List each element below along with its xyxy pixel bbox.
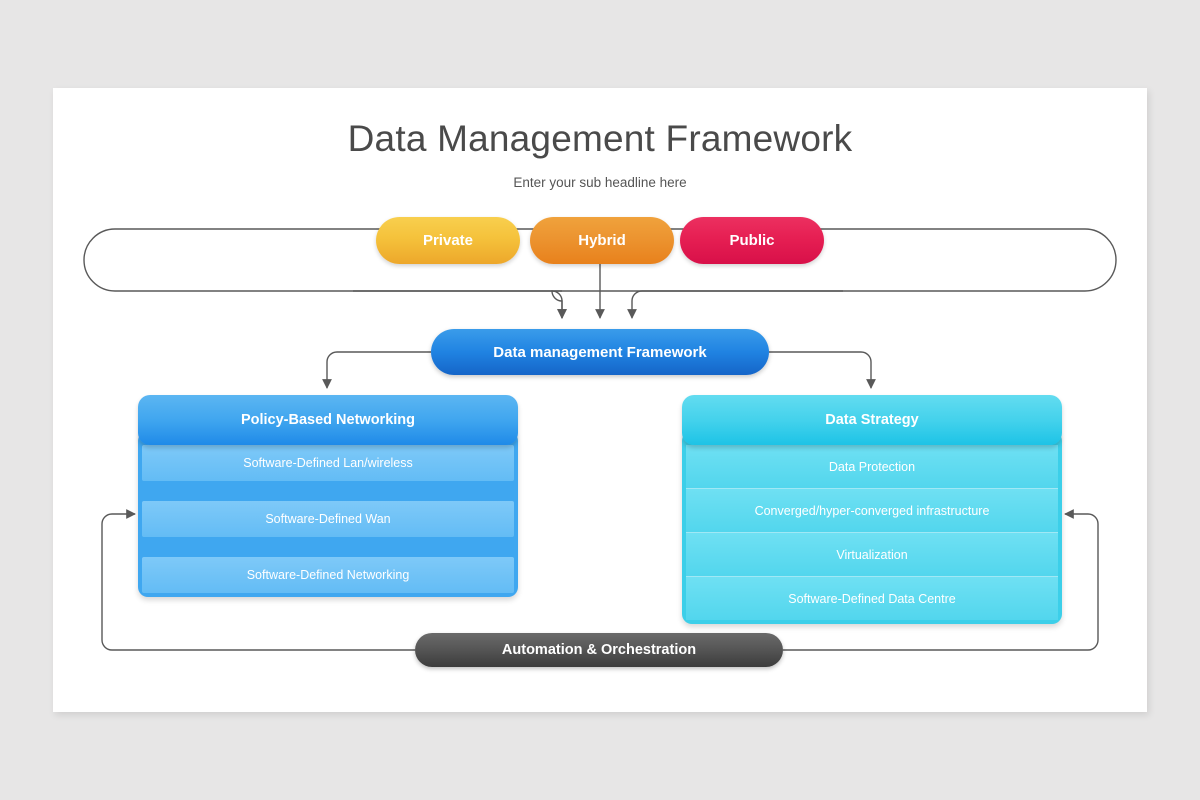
list-item[interactable]: Software-Defined Data Centre	[686, 576, 1058, 620]
list-item[interactable]: Software-Defined Lan/wireless	[142, 445, 514, 481]
column-data-strategy: Data Strategy Data Protection Converged/…	[682, 395, 1062, 624]
page-title: Data Management Framework	[53, 118, 1147, 160]
cloud-pill-public[interactable]: Public	[680, 217, 824, 264]
column-body-right: Data Protection Converged/hyper-converge…	[682, 431, 1062, 624]
column-header-right[interactable]: Data Strategy	[682, 395, 1062, 445]
list-item[interactable]: Data Protection	[686, 445, 1058, 488]
list-item[interactable]: Virtualization	[686, 532, 1058, 576]
slide-canvas: Data Management Framework Enter your sub…	[53, 88, 1147, 712]
column-body-left: Software-Defined Lan/wireless Software-D…	[138, 431, 518, 597]
list-item[interactable]: Software-Defined Networking	[142, 557, 514, 593]
framework-node[interactable]: Data management Framework	[431, 329, 769, 375]
cloud-pill-hybrid[interactable]: Hybrid	[530, 217, 674, 264]
automation-orchestration-bar[interactable]: Automation & Orchestration	[415, 633, 783, 667]
list-item[interactable]: Converged/hyper-converged infrastructure	[686, 488, 1058, 532]
cloud-pill-private[interactable]: Private	[376, 217, 520, 264]
list-item[interactable]: Software-Defined Wan	[142, 501, 514, 537]
column-header-left[interactable]: Policy-Based Networking	[138, 395, 518, 445]
page-subtitle: Enter your sub headline here	[53, 175, 1147, 190]
column-policy-based-networking: Policy-Based Networking Software-Defined…	[138, 395, 518, 597]
